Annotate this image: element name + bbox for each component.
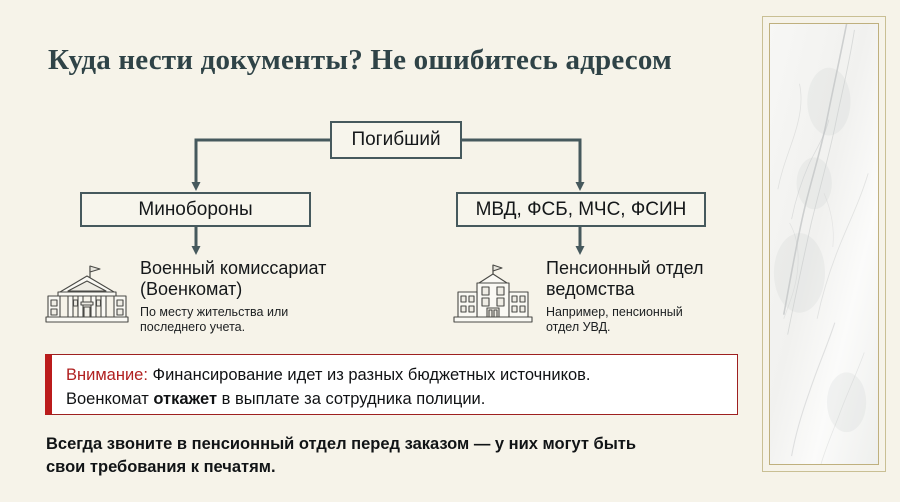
- outcome-left-sub-line2: последнего учета.: [140, 320, 245, 334]
- outcome-right-subtext: Например, пенсионный отдел УВД.: [546, 305, 786, 335]
- flow-node-minoborony: Минобороны: [80, 192, 311, 227]
- warning-line1-text: Финансирование идет из разных бюджетных …: [148, 366, 591, 384]
- footer-line1: Всегда звоните в пенсионный отдел перед …: [46, 435, 636, 453]
- warning-line-1: Внимание: Финансирование идет из разных …: [66, 363, 737, 387]
- footer-note: Всегда звоните в пенсионный отдел перед …: [46, 433, 746, 479]
- panel-inner-frame: [769, 23, 879, 465]
- flow-node-root: Погибший: [330, 121, 462, 159]
- outcome-right-sub-line1: Например, пенсионный: [546, 305, 683, 319]
- administrative-building-icon: [450, 264, 536, 326]
- marble-decorative-panel: [762, 16, 886, 472]
- marble-texture: [770, 24, 878, 464]
- outcome-right-heading: Пенсионный отдел ведомства: [546, 258, 796, 300]
- outcome-right-heading-line1: Пенсионный отдел: [546, 258, 704, 278]
- warning-line-2: Военкомат откажет в выплате за сотрудник…: [66, 387, 737, 411]
- page-title: Куда нести документы? Не ошибитесь адрес…: [48, 44, 748, 77]
- outcome-left-heading-line2: (Военкомат): [140, 279, 242, 299]
- classical-government-building-icon: [44, 264, 130, 326]
- infographic-canvas: Куда нести документы? Не ошибитесь адрес…: [0, 0, 900, 502]
- outcome-left-subtext: По месту жительства или последнего учета…: [140, 305, 380, 335]
- warning-callout: Внимание: Финансирование идет из разных …: [45, 354, 738, 415]
- footer-line2: свои требования к печатям.: [46, 458, 276, 476]
- outcome-right-heading-line2: ведомства: [546, 279, 634, 299]
- outcome-left-sub-line1: По месту жительства или: [140, 305, 288, 319]
- outcome-left-heading-line1: Военный комиссариат: [140, 258, 326, 278]
- outcome-left-heading: Военный комиссариат (Военкомат): [140, 258, 390, 300]
- warning-line2-strong: откажет: [153, 390, 217, 408]
- outcome-right-sub-line2: отдел УВД.: [546, 320, 611, 334]
- flow-node-agencies: МВД, ФСБ, МЧС, ФСИН: [456, 192, 706, 227]
- warning-label: Внимание:: [66, 366, 148, 384]
- warning-line2-before: Военкомат: [66, 390, 153, 408]
- warning-line2-after: в выплате за сотрудника полиции.: [217, 390, 485, 408]
